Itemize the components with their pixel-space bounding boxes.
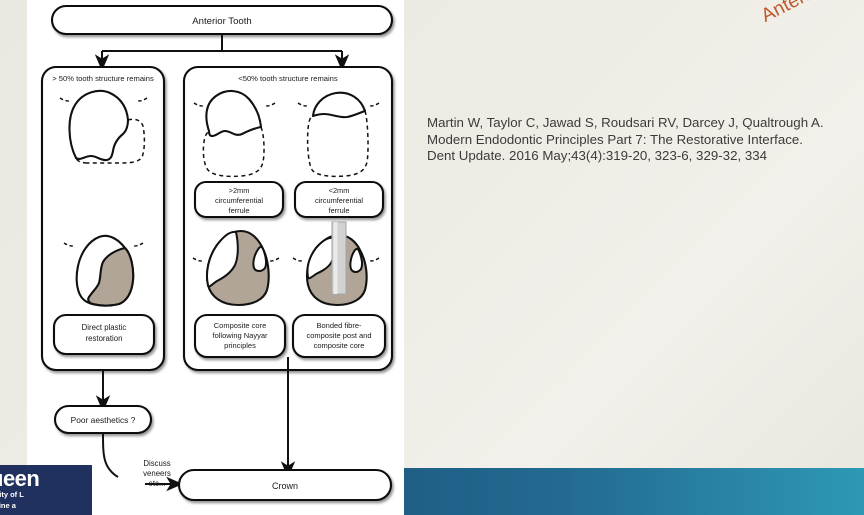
edge-label-line1: Discuss — [143, 459, 170, 468]
citation-line-2: Modern Endodontic Principles Part 7: The… — [427, 132, 847, 149]
logo-line-2: ersity of L — [0, 490, 24, 499]
node-bonded-fibre-post-line2: composite post and — [306, 331, 371, 340]
university-logo: ueen ersity of L dicine a — [0, 465, 92, 515]
node-ferrule-greater-2mm-line3: ferrule — [229, 206, 250, 215]
node-ferrule-less-2mm: <2mm circumferential ferrule — [295, 182, 383, 217]
node-ferrule-less-2mm-line1: <2mm — [329, 186, 350, 195]
node-ferrule-less-2mm-line2: circumferential — [315, 196, 363, 205]
node-composite-core-nayyar-line2: following Nayyar — [212, 331, 268, 340]
node-bonded-fibre-post: Bonded fibre- composite post and composi… — [293, 315, 385, 357]
node-composite-core-nayyar-line3: principles — [224, 341, 256, 350]
node-direct-plastic-restoration-line2: restoration — [86, 334, 123, 343]
panel-more-than-50: > 50% tooth structure remains — [42, 67, 164, 370]
citation-block: Martin W, Taylor C, Jawad S, Roudsari RV… — [427, 115, 847, 165]
node-ferrule-greater-2mm: >2mm circumferential ferrule — [195, 182, 283, 217]
panel-less-than-50-label: <50% tooth structure remains — [238, 74, 338, 83]
page-title: Anterior teeth — [758, 0, 864, 28]
node-composite-core-nayyar-line1: Composite core — [214, 321, 267, 330]
node-ferrule-greater-2mm-line2: circumferential — [215, 196, 263, 205]
edge-label-line3: etc... — [149, 479, 166, 488]
node-poor-aesthetics: Poor aesthetics ? — [55, 406, 151, 433]
logo-line-1: ueen — [0, 466, 39, 492]
node-crown-label: Crown — [272, 481, 298, 491]
node-direct-plastic-restoration-line1: Direct plastic — [82, 323, 127, 332]
citation-line-3: Dent Update. 2016 May;43(4):319-20, 323-… — [427, 148, 847, 165]
citation-line-1: Martin W, Taylor C, Jawad S, Roudsari RV… — [427, 115, 847, 132]
connector-root-split — [102, 34, 342, 63]
flowchart-image: Anterior Tooth > 50% tooth structure rem… — [27, 0, 404, 515]
accent-band — [404, 468, 864, 515]
node-crown: Crown — [179, 470, 391, 500]
logo-line-3: dicine a — [0, 501, 16, 510]
slide-canvas: Anterior teeth Anterior Tooth — [0, 0, 864, 515]
node-composite-core-nayyar: Composite core following Nayyar principl… — [195, 315, 285, 357]
node-bonded-fibre-post-line1: Bonded fibre- — [316, 321, 362, 330]
node-ferrule-less-2mm-line3: ferrule — [329, 206, 350, 215]
edge-label-line2: veneers — [143, 469, 171, 478]
node-bonded-fibre-post-line3: composite core — [314, 341, 365, 350]
node-poor-aesthetics-label: Poor aesthetics ? — [71, 415, 136, 425]
node-anterior-tooth-label: Anterior Tooth — [192, 16, 252, 27]
node-direct-plastic-restoration: Direct plastic restoration — [54, 315, 154, 354]
node-anterior-tooth: Anterior Tooth — [52, 6, 392, 34]
panel-less-than-50: <50% tooth structure remains — [184, 67, 392, 370]
node-ferrule-greater-2mm-line1: >2mm — [229, 186, 250, 195]
panel-more-than-50-label: > 50% tooth structure remains — [52, 74, 154, 83]
